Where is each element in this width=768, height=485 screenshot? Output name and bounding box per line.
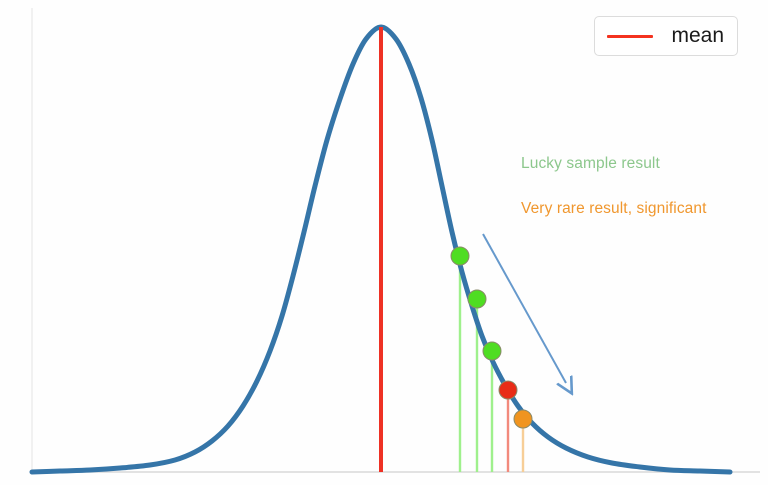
axes	[32, 8, 760, 472]
marker-sample-5	[514, 410, 532, 428]
distribution-plot	[0, 0, 768, 485]
legend-mean-line-swatch	[607, 35, 653, 38]
annotation-rare-result: Very rare result, significant	[521, 200, 707, 218]
annotation-lucky-sample: Lucky sample result	[521, 155, 660, 173]
legend-label-mean: mean	[656, 24, 728, 48]
marker-sample-4	[499, 381, 517, 399]
legend[interactable]: mean	[594, 16, 738, 56]
trend-arrow	[483, 234, 566, 383]
chart-figure: Lucky sample result Very rare result, si…	[0, 0, 768, 485]
marker-sample-3	[483, 342, 501, 360]
legend-swatch-wrapper	[604, 35, 656, 38]
marker-sample-1	[451, 247, 469, 265]
marker-sample-2	[468, 290, 486, 308]
